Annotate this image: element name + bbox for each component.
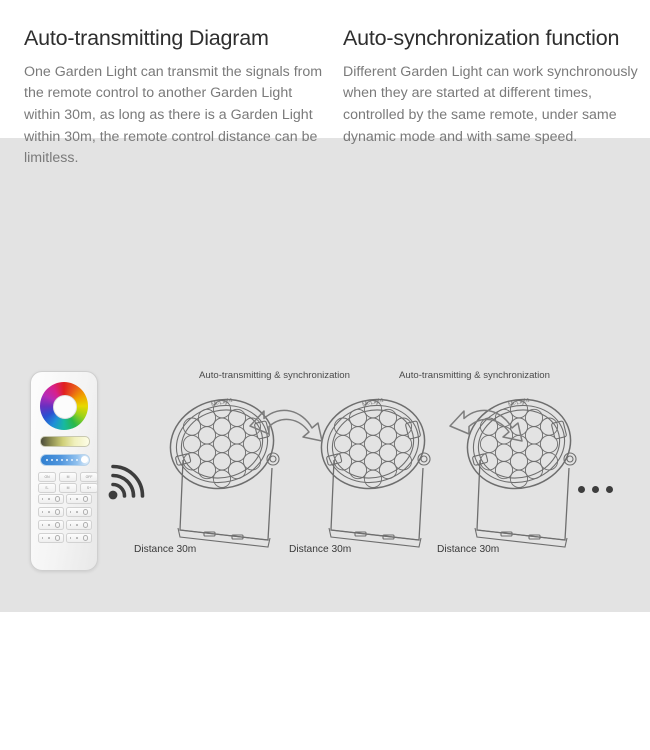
arrow-label-transmitting-1: Auto-transmitting & synchronization (199, 370, 350, 381)
page-title-auto-transmitting: Auto-transmitting Diagram (24, 26, 324, 52)
distance-label-1: Distance 30m (134, 544, 196, 555)
zone-button[interactable] (66, 533, 92, 543)
distance-label-2: Distance 30m (289, 544, 351, 555)
ellipsis-dot (606, 486, 613, 493)
garden-light-lamp: Mi·Light (311, 382, 441, 557)
description-auto-transmitting: One Garden Light can transmit the signal… (24, 62, 324, 170)
zone-button[interactable] (66, 494, 92, 504)
transmission-arrow-icon (444, 392, 530, 444)
brightness-slider[interactable] (40, 436, 90, 447)
ellipsis-dot (592, 486, 599, 493)
zone-button[interactable] (38, 520, 64, 530)
zone-button[interactable] (66, 507, 92, 517)
zone-button[interactable] (38, 533, 64, 543)
mode-toggle-button[interactable]: M (59, 483, 77, 493)
transmission-arrow-icon (244, 392, 330, 444)
speed-down-button[interactable]: S- (38, 483, 56, 493)
remote-button-row-power: ON M OFF (38, 472, 98, 482)
description-auto-synchronization: Different Garden Light can work synchron… (343, 62, 643, 148)
speed-up-button[interactable]: S+ (80, 483, 98, 493)
wireless-signal-icon (104, 452, 156, 504)
remote-button-row-speed: S- M S+ (38, 483, 98, 493)
remote-control[interactable]: ON M OFF S- M S+ (30, 371, 98, 571)
zone-button[interactable] (66, 520, 92, 530)
zone-button-grid (38, 494, 90, 543)
arrow-label-transmitting-2: Auto-transmitting & synchronization (399, 370, 550, 381)
section-auto-synchronization: Auto-synchronization function Different … (343, 26, 643, 148)
section-auto-transmitting: Auto-transmitting Diagram One Garden Lig… (24, 26, 324, 170)
color-wheel-icon[interactable] (40, 382, 88, 430)
distance-label-3: Distance 30m (437, 544, 499, 555)
mode-button[interactable]: M (59, 472, 77, 482)
color-temperature-slider[interactable] (40, 454, 90, 466)
off-button[interactable]: OFF (80, 472, 98, 482)
zone-button[interactable] (38, 494, 64, 504)
page-title-auto-synchronization: Auto-synchronization function (343, 26, 643, 52)
ellipsis-dot (578, 486, 585, 493)
zone-button[interactable] (38, 507, 64, 517)
ellipsis-indicator (578, 486, 613, 493)
on-button[interactable]: ON (38, 472, 56, 482)
